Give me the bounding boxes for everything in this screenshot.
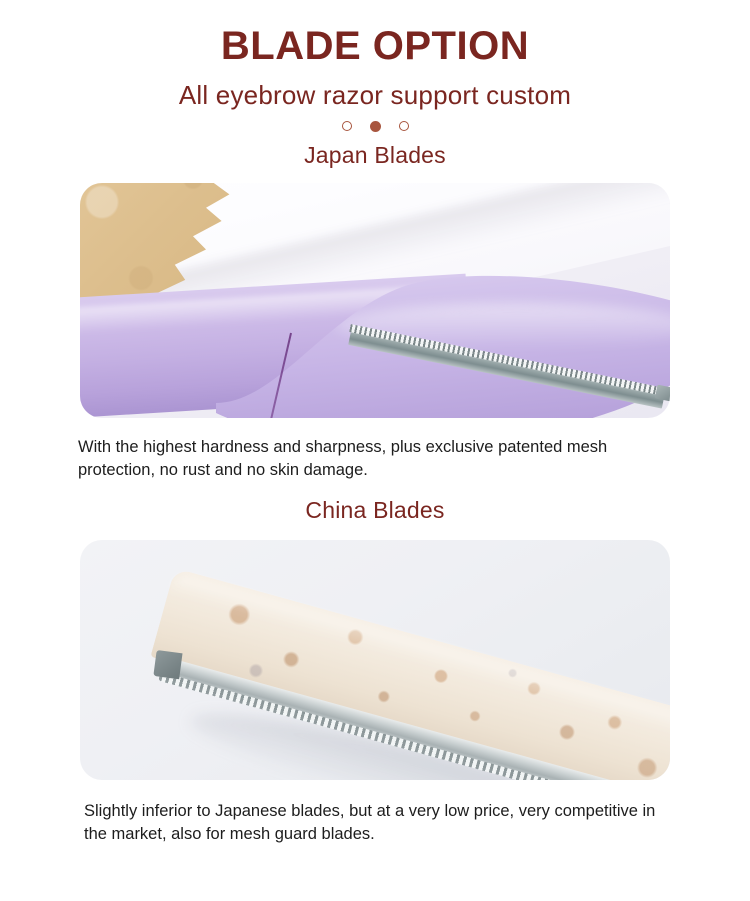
japan-photo-scene [80,183,670,418]
product-image-china-blade [80,540,670,780]
page-subtitle: All eyebrow razor support custom [0,66,750,108]
japan-razor [80,267,670,418]
page-title: BLADE OPTION [0,0,750,66]
blade-end-cap [153,650,182,679]
china-razor [127,568,670,780]
pagination-dots [0,108,750,126]
pagination-dot-3[interactable] [399,121,409,131]
pagination-dot-1[interactable] [342,121,352,131]
section-heading-japan: Japan Blades [0,126,750,167]
caption-china-blades: Slightly inferior to Japanese blades, bu… [70,780,680,847]
product-image-japan-blade [80,183,670,418]
section-china-blades: China Blades Slightly inferior to Japane… [0,483,750,847]
china-photo-scene [80,540,670,780]
section-heading-china: China Blades [0,483,750,522]
blade-tip [655,385,670,402]
pagination-dot-2[interactable] [370,121,381,132]
banner-header: BLADE OPTION All eyebrow razor support c… [0,0,750,126]
caption-japan-blades: With the highest hardness and sharpness,… [70,418,680,483]
product-detail-page: BLADE OPTION All eyebrow razor support c… [0,0,750,901]
section-japan-blades: Japan Blades With the highest hardness a… [0,126,750,483]
